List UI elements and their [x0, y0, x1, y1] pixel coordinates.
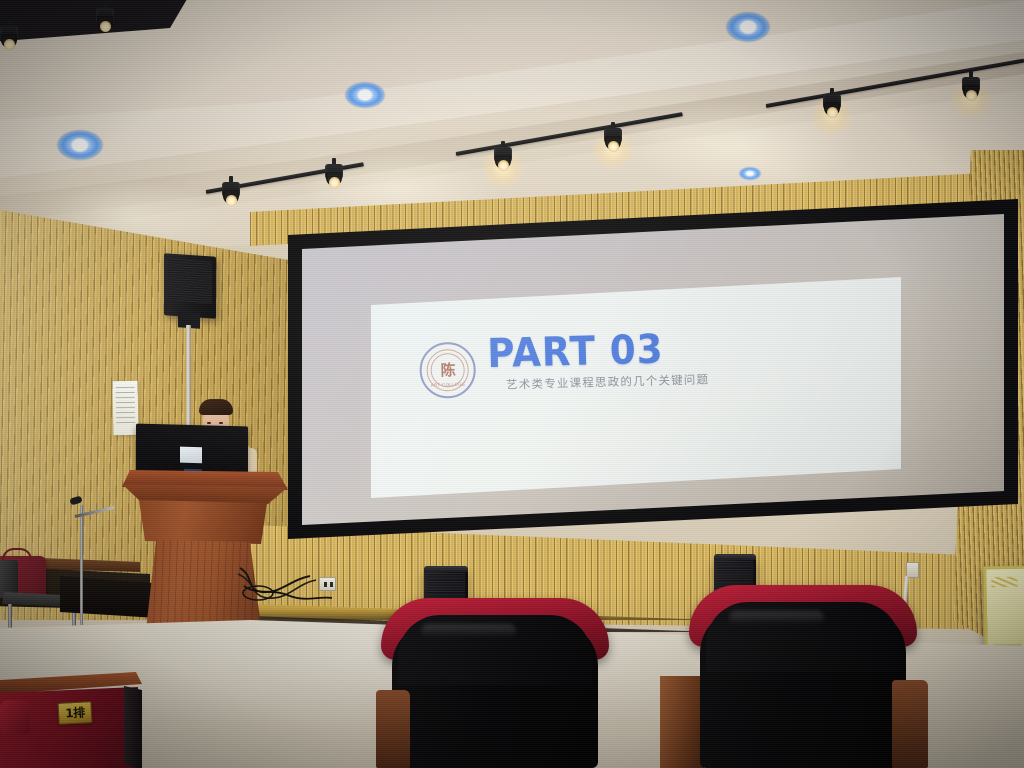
- wall-speaker-icon: [164, 253, 216, 319]
- track-spotlight-icon: [494, 141, 512, 175]
- track-spotlight-icon: [823, 88, 841, 122]
- seal-character: 陈: [440, 359, 455, 380]
- recessed-downlight-icon: [345, 82, 385, 108]
- track-spotlight-icon: [962, 71, 980, 105]
- chair-armrest: [376, 690, 410, 768]
- row-number-label: 1排: [65, 707, 85, 720]
- slide-content: 陈 ART COLLEGE PART 03 艺术类专业课程思政的几个关键问题: [419, 327, 722, 435]
- wall-notice-paper: [113, 381, 139, 435]
- notice-board: [983, 566, 1024, 659]
- seal-subtext: ART COLLEGE: [431, 382, 466, 388]
- track-spotlight-icon: [0, 20, 18, 54]
- wall-outlet: [319, 577, 336, 591]
- podium-monitor: [136, 424, 248, 477]
- theater-chair: [392, 598, 598, 768]
- podium-neck: [139, 500, 267, 544]
- lecture-hall-photo: 陈 ART COLLEGE PART 03 艺术类专业课程思政的几个关键问题: [0, 0, 1024, 768]
- track-spotlight-icon: [222, 176, 240, 210]
- track-spotlight-icon: [325, 158, 343, 192]
- seat-cushion: [0, 700, 30, 734]
- track-spotlight-icon: [604, 122, 622, 156]
- university-seal-icon: 陈 ART COLLEGE: [419, 341, 476, 398]
- recessed-downlight-icon: [726, 12, 770, 42]
- recessed-downlight-icon: [57, 130, 103, 160]
- track-spotlight-icon: [96, 2, 114, 36]
- floor-cables: [236, 566, 346, 618]
- recessed-downlight-icon: [739, 167, 761, 180]
- theater-chair: [700, 585, 906, 768]
- row-number-plate: 1排: [57, 701, 92, 725]
- chair-divider-wood: [660, 676, 704, 768]
- slide-title: PART 03: [487, 328, 694, 375]
- chair-armrest: [892, 680, 928, 768]
- microphone-stand: [80, 505, 83, 625]
